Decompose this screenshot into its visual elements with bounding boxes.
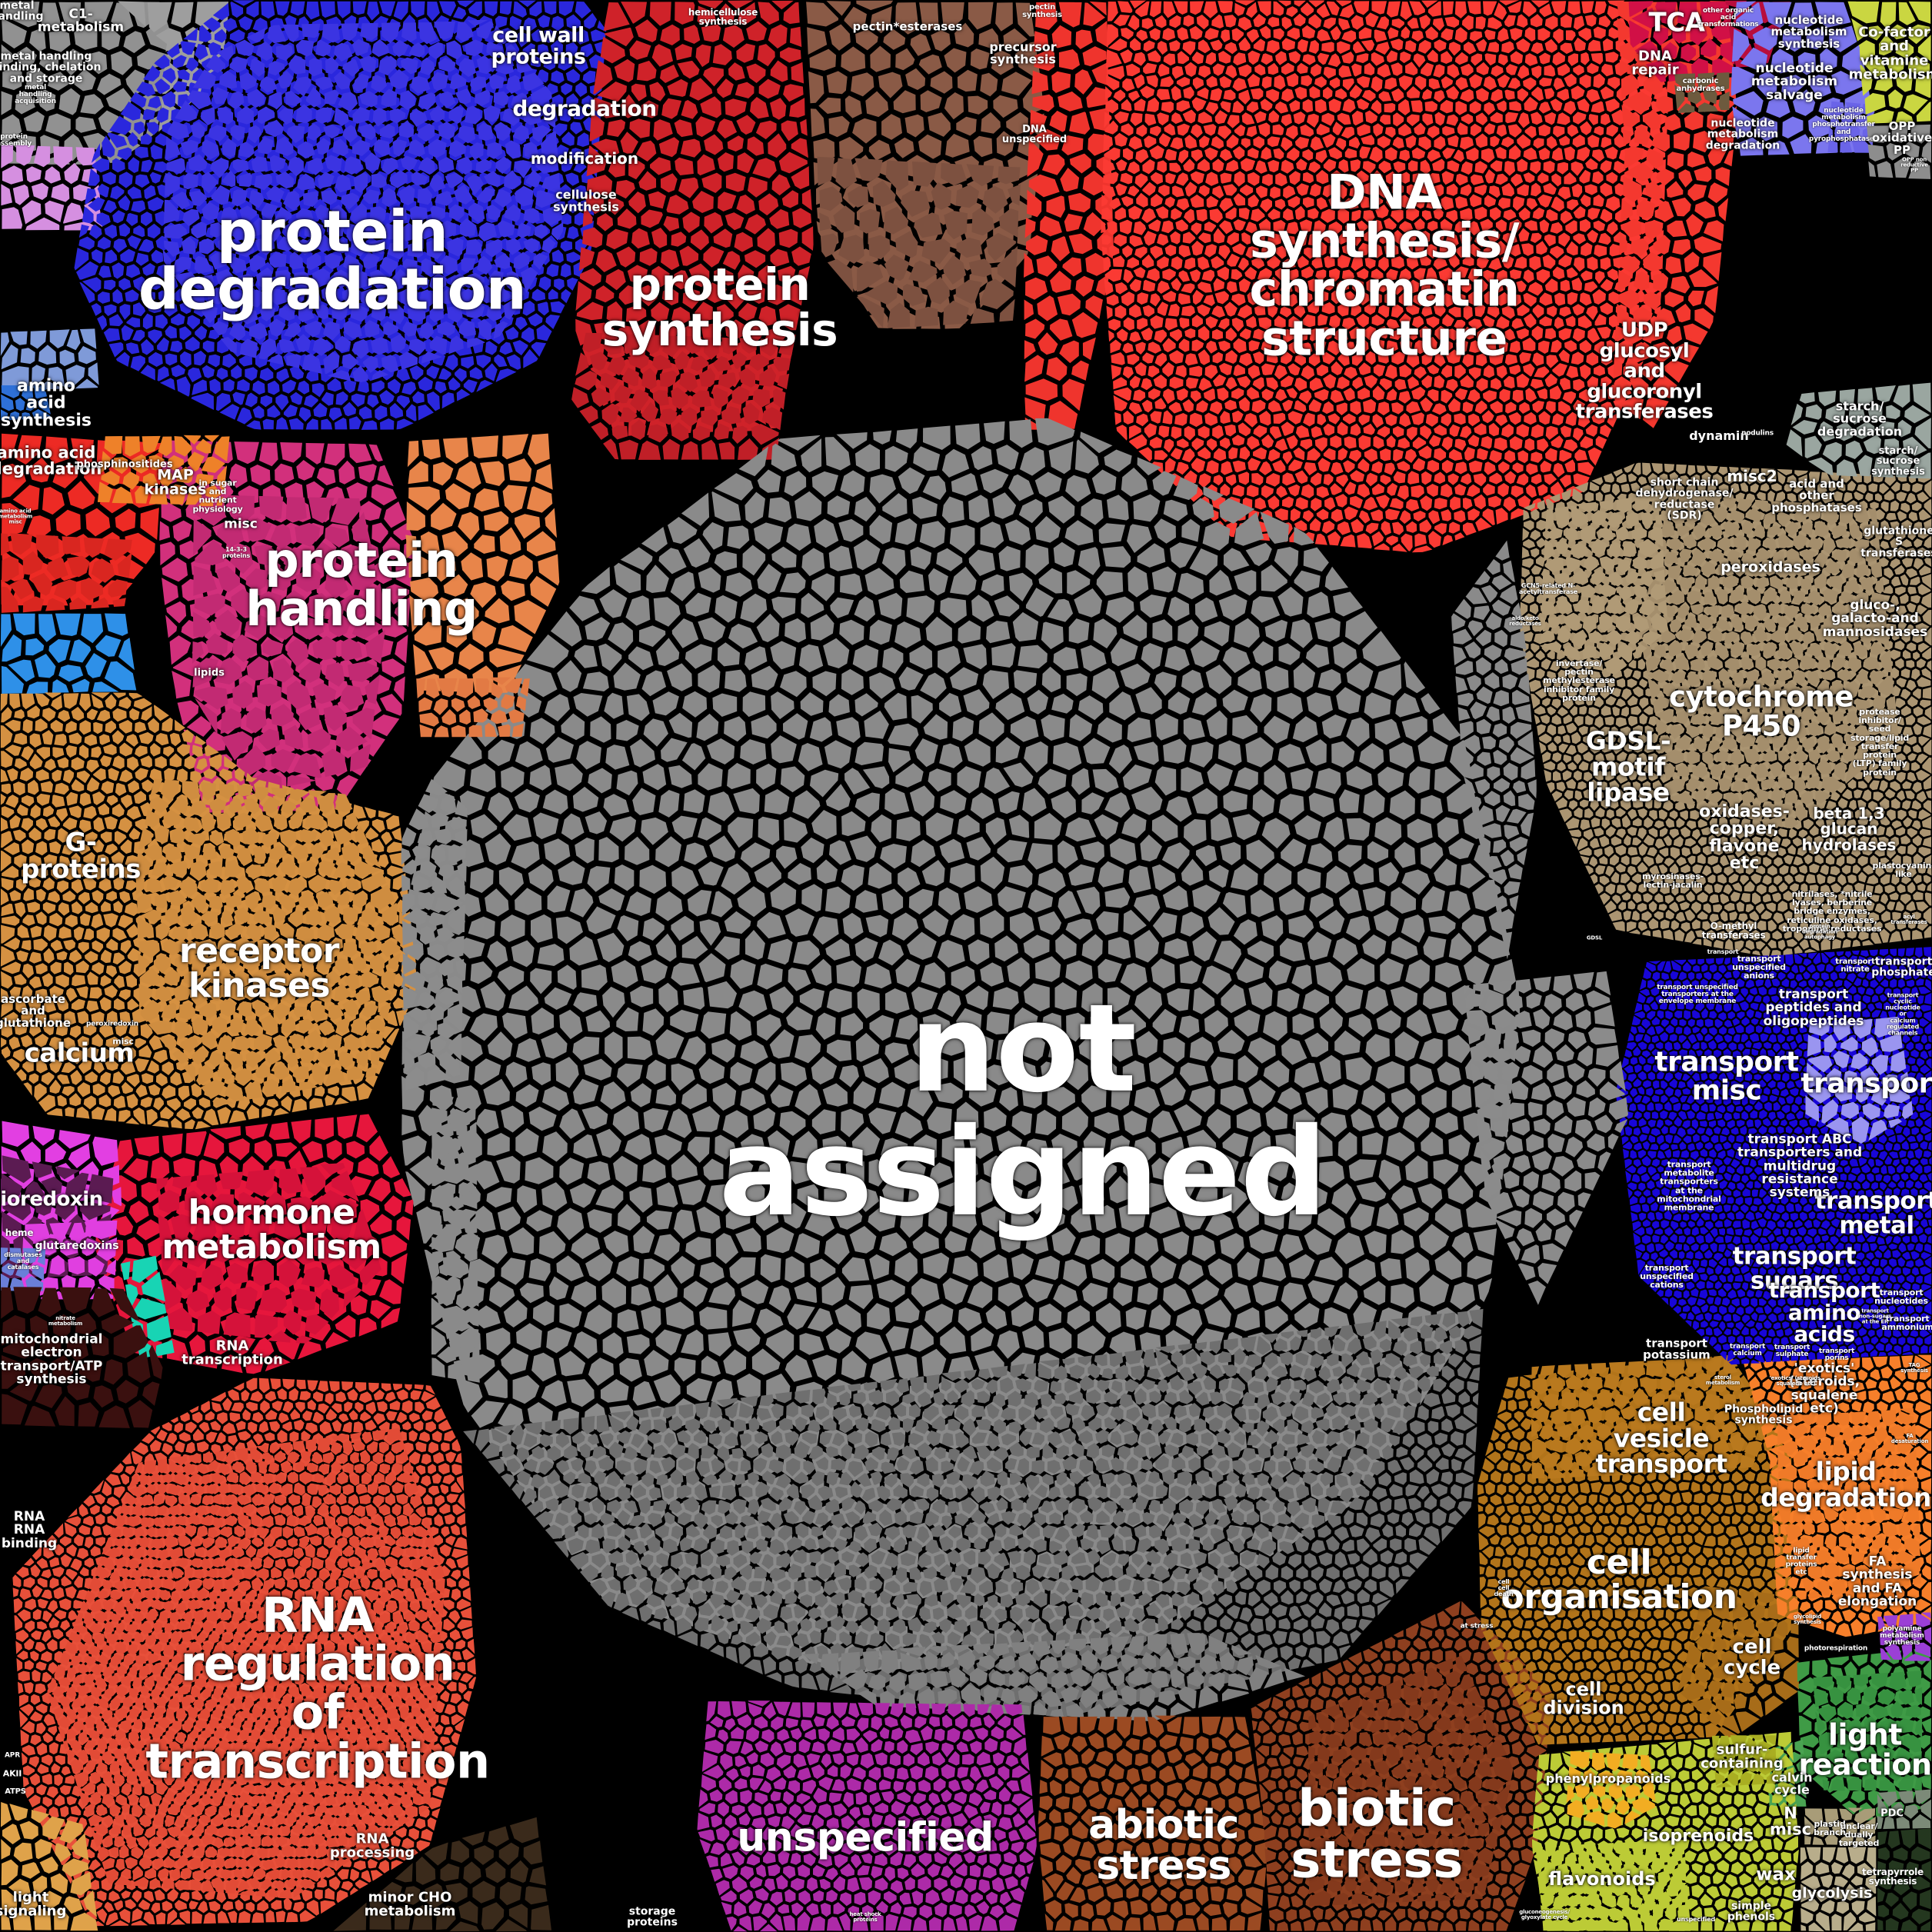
voronoi-cell	[48, 72, 68, 91]
voronoi-cell	[397, 395, 411, 408]
voronoi-cell	[1204, 1010, 1228, 1038]
voronoi-cell	[644, 1108, 669, 1133]
voronoi-cell	[1391, 88, 1404, 102]
voronoi-cell	[1452, 1084, 1472, 1112]
voronoi-cell	[971, 792, 995, 819]
voronoi-cell	[1371, 100, 1381, 115]
voronoi-cell	[781, 121, 798, 142]
voronoi-cell	[1183, 15, 1194, 27]
voronoi-cell	[1360, 146, 1371, 158]
region-cell-wall-2	[817, 157, 1021, 328]
voronoi-cell	[1365, 12, 1378, 27]
voronoi-cell	[1220, 173, 1231, 184]
voronoi-cell	[1009, 814, 1029, 838]
voronoi-cell	[1307, 931, 1331, 960]
voronoi-cell	[684, 538, 711, 568]
voronoi-cell	[730, 1062, 753, 1086]
voronoi-cell	[1601, 279, 1614, 291]
voronoi-cell	[1054, 542, 1075, 568]
voronoi-cell	[1270, 426, 1281, 439]
voronoi-cell	[625, 595, 650, 625]
voronoi-cell	[1164, 197, 1175, 208]
voronoi-cell	[1244, 267, 1257, 280]
voronoi-cell	[1350, 85, 1363, 98]
voronoi-cell	[1206, 341, 1217, 354]
voronoi-cell	[427, 365, 440, 378]
voronoi-cell	[698, 6, 717, 25]
voronoi-cell	[1393, 426, 1404, 438]
voronoi-cell	[1038, 911, 1061, 935]
voronoi-cell	[1160, 1078, 1186, 1106]
voronoi-cell	[696, 45, 711, 67]
voronoi-cell	[1227, 254, 1240, 267]
voronoi-cell	[1114, 89, 1126, 102]
voronoi-cell	[1317, 314, 1327, 326]
voronoi-cell	[567, 226, 579, 239]
voronoi-cell	[1268, 400, 1282, 412]
voronoi-cell	[1150, 437, 1163, 448]
voronoi-cell	[1594, 195, 1604, 207]
voronoi-cell	[1442, 460, 1454, 474]
voronoi-cell	[1524, 269, 1534, 283]
voronoi-cell	[1807, 28, 1824, 49]
voronoi-cell	[1315, 768, 1341, 794]
voronoi-cell	[1391, 62, 1402, 76]
voronoi-cell	[998, 546, 1020, 571]
voronoi-cell	[1477, 328, 1489, 341]
voronoi-cell	[1523, 2, 1537, 17]
voronoi-cell	[1374, 664, 1402, 695]
voronoi-cell	[911, 987, 938, 1013]
voronoi-cell	[1078, 695, 1104, 720]
voronoi-cell	[591, 422, 609, 440]
voronoi-cell	[1051, 791, 1076, 819]
voronoi-cell	[682, 743, 705, 770]
voronoi-cell	[1414, 195, 1427, 208]
voronoi-cell	[1261, 485, 1274, 498]
voronoi-cell	[485, 341, 498, 355]
voronoi-cell	[1441, 51, 1452, 64]
voronoi-cell	[728, 62, 745, 81]
voronoi-cell	[1285, 294, 1297, 307]
voronoi-cell	[651, 228, 667, 248]
voronoi-cell	[728, 135, 744, 152]
voronoi-cell	[1357, 124, 1371, 136]
voronoi-cell	[1247, 485, 1259, 497]
voronoi-cell	[971, 446, 993, 470]
voronoi-cell	[1311, 136, 1324, 151]
voronoi-cell	[1371, 1, 1387, 14]
voronoi-cell	[940, 790, 967, 814]
voronoi-cell	[1887, 143, 1903, 161]
voronoi-cell	[718, 192, 736, 212]
voronoi-cell	[654, 597, 681, 626]
voronoi-cell	[672, 270, 692, 289]
voronoi-cell	[1204, 2, 1218, 18]
voronoi-cell	[151, 145, 163, 159]
voronoi-cell	[1554, 78, 1565, 91]
voronoi-cell	[1502, 183, 1515, 197]
voronoi-cell	[1267, 304, 1278, 318]
voronoi-cell	[1391, 38, 1404, 50]
voronoi-cell	[671, 232, 687, 247]
voronoi-cell	[1311, 498, 1321, 511]
voronoi-cell	[1342, 270, 1354, 283]
voronoi-cell	[515, 741, 543, 768]
voronoi-cell	[1292, 1158, 1314, 1185]
voronoi-cell	[439, 2, 456, 17]
voronoi-cell	[1184, 135, 1197, 148]
voronoi-cell	[1154, 671, 1177, 695]
voronoi-cell	[1467, 508, 1480, 521]
voronoi-cell	[1315, 962, 1343, 992]
voronoi-cell	[1678, 169, 1692, 188]
voronoi-cell	[1405, 959, 1430, 988]
voronoi-cell	[438, 368, 451, 380]
voronoi-cell	[1189, 741, 1213, 768]
voronoi-cell	[1109, 245, 1119, 256]
voronoi-cell	[1066, 918, 1093, 940]
voronoi-cell	[1455, 52, 1468, 65]
voronoi-cell	[598, 933, 625, 962]
voronoi-cell	[1267, 136, 1281, 147]
voronoi-cell	[1484, 291, 1495, 305]
voronoi-cell	[1094, 1059, 1117, 1084]
voronoi-cell	[1344, 174, 1357, 187]
voronoi-cell	[1399, 413, 1411, 427]
voronoi-cell	[950, 667, 978, 691]
voronoi-cell	[1485, 169, 1495, 184]
voronoi-cell	[1412, 316, 1424, 328]
voronoi-cell	[1517, 88, 1528, 102]
voronoi-cell	[45, 166, 61, 183]
voronoi-cell	[1533, 208, 1545, 220]
voronoi-cell	[523, 301, 535, 316]
voronoi-cell	[1150, 411, 1161, 423]
voronoi-cell	[1399, 172, 1410, 184]
voronoi-cell	[119, 223, 131, 237]
voronoi-cell	[1406, 232, 1416, 242]
voronoi-cell	[1234, 1010, 1260, 1037]
voronoi-cell	[791, 247, 811, 266]
voronoi-cell	[1302, 149, 1313, 161]
voronoi-cell	[1162, 842, 1190, 869]
voronoi-cell	[1297, 868, 1321, 893]
voronoi-cell	[838, 519, 863, 542]
voronoi-cell	[964, 738, 991, 767]
voronoi-cell	[158, 366, 169, 381]
voronoi-cell	[561, 289, 571, 303]
voronoi-cell	[708, 791, 734, 821]
voronoi-cell	[1217, 1, 1233, 13]
voronoi-cell	[1447, 891, 1471, 919]
voronoi-cell	[1205, 102, 1218, 115]
voronoi-cell	[822, 1136, 848, 1159]
voronoi-cell	[1304, 248, 1316, 259]
voronoi-cell	[1126, 64, 1141, 76]
voronoi-cell	[1169, 350, 1184, 364]
voronoi-cell	[841, 1109, 864, 1138]
voronoi-cell	[1214, 448, 1227, 461]
voronoi-cell	[1877, 161, 1893, 178]
voronoi-cell	[1322, 302, 1335, 315]
voronoi-cell	[1163, 885, 1188, 910]
voronoi-cell	[1573, 400, 1585, 412]
voronoi-cell	[1210, 1151, 1239, 1183]
voronoi-cell	[1192, 97, 1207, 112]
voronoi-cell	[565, 173, 579, 186]
voronoi-cell	[1374, 818, 1401, 846]
voronoi-cell	[1675, 343, 1699, 362]
voronoi-cell	[799, 645, 823, 673]
voronoi-cell	[1038, 769, 1066, 794]
voronoi-cell	[1448, 307, 1461, 318]
voronoi-cell	[704, 135, 723, 155]
voronoi-cell	[1394, 230, 1404, 245]
voronoi-cell	[1429, 78, 1441, 90]
voronoi-cell	[1595, 314, 1607, 326]
voronoi-cell	[1537, 388, 1547, 399]
voronoi-cell	[165, 325, 177, 338]
voronoi-cell	[411, 172, 428, 185]
voronoi-cell	[598, 644, 621, 671]
voronoi-cell	[1238, 258, 1249, 271]
voronoi-cell	[120, 249, 135, 264]
voronoi-cell	[828, 259, 854, 292]
voronoi-cell	[1181, 519, 1200, 542]
voronoi-cell	[510, 16, 522, 31]
voronoi-cell	[1120, 220, 1133, 235]
voronoi-cell	[1684, 324, 1708, 345]
voronoi-cell	[1059, 49, 1080, 70]
voronoi-cell	[1069, 715, 1092, 741]
voronoi-cell	[554, 278, 565, 290]
voronoi-cell	[559, 1010, 582, 1039]
voronoi-cell	[133, 302, 145, 316]
voronoi-cell	[1224, 400, 1237, 411]
voronoi-cell	[1468, 318, 1482, 330]
voronoi-cell	[1143, 305, 1154, 317]
voronoi-cell	[92, 303, 102, 316]
voronoi-cell	[1251, 257, 1264, 269]
voronoi-cell	[1279, 794, 1304, 821]
voronoi-cell	[588, 768, 612, 794]
voronoi-cell	[914, 1134, 937, 1163]
voronoi-cell	[1251, 88, 1264, 100]
voronoi-cell	[756, 121, 777, 139]
voronoi-cell	[1480, 219, 1493, 232]
voronoi-cell	[1259, 461, 1272, 475]
voronoi-cell	[1111, 1036, 1133, 1061]
voronoi-cell	[1320, 1008, 1344, 1038]
voronoi-cell	[744, 646, 767, 670]
voronoi-cell	[1065, 520, 1094, 545]
voronoi-cell	[559, 2, 575, 16]
voronoi-cell	[583, 671, 609, 691]
voronoi-cell	[1538, 411, 1550, 425]
voronoi-cell	[1157, 112, 1169, 125]
voronoi-cell	[1080, 841, 1104, 863]
voronoi-cell	[1441, 390, 1452, 404]
voronoi-cell	[671, 307, 691, 325]
voronoi-cell	[1411, 387, 1425, 400]
voronoi-cell	[1406, 499, 1419, 511]
voronoi-cell	[465, 39, 483, 56]
voronoi-cell	[723, 25, 744, 48]
voronoi-cell	[1366, 351, 1376, 365]
voronoi-cell	[577, 132, 589, 147]
voronoi-cell	[1331, 26, 1341, 41]
voronoi-cell	[160, 378, 175, 391]
voronoi-cell	[1142, 255, 1154, 268]
voronoi-cell	[528, 313, 542, 326]
voronoi-cell	[1339, 888, 1362, 914]
voronoi-cell	[664, 216, 680, 232]
voronoi-cell	[1426, 316, 1439, 328]
voronoi-cell	[1434, 858, 1457, 885]
voronoi-cell	[321, 392, 334, 406]
voronoi-cell	[1550, 246, 1564, 259]
voronoi-cell	[1171, 86, 1182, 102]
voronoi-cell	[1098, 861, 1124, 888]
voronoi-cell	[621, 95, 637, 118]
voronoi-cell	[883, 29, 905, 50]
voronoi-cell	[1307, 843, 1333, 868]
voronoi-cell	[599, 589, 627, 618]
voronoi-cell	[699, 1058, 725, 1084]
voronoi-cell	[1399, 75, 1413, 91]
voronoi-cell	[1351, 64, 1362, 77]
voronoi-cell	[1420, 398, 1433, 412]
voronoi-cell	[1607, 340, 1617, 353]
voronoi-cell	[1377, 352, 1388, 364]
voronoi-cell	[1079, 1037, 1106, 1061]
voronoi-cell	[1123, 1161, 1148, 1187]
voronoi-cell	[980, 469, 1008, 494]
voronoi-cell	[1394, 162, 1406, 173]
voronoi-cell	[1454, 532, 1464, 540]
voronoi-cell	[1275, 102, 1288, 114]
voronoi-cell	[1176, 462, 1188, 475]
voronoi-cell	[1006, 112, 1028, 135]
voronoi-cell	[1226, 475, 1237, 486]
voronoi-cell	[1255, 160, 1267, 174]
voronoi-cell	[718, 152, 734, 172]
voronoi-cell	[471, 814, 498, 839]
voronoi-cell	[1531, 379, 1544, 389]
voronoi-cell	[495, 288, 513, 302]
voronoi-cell	[1008, 475, 1034, 501]
voronoi-cell	[309, 58, 323, 76]
voronoi-cell	[771, 249, 790, 267]
voronoi-cell	[1494, 438, 1507, 451]
voronoi-cell	[1374, 436, 1384, 449]
voronoi-cell	[1120, 664, 1150, 690]
voronoi-cell	[1538, 341, 1550, 354]
voronoi-cell	[996, 445, 1019, 470]
voronoi-cell	[1272, 292, 1284, 305]
voronoi-cell	[1407, 185, 1417, 198]
voronoi-cell	[1667, 221, 1687, 237]
voronoi-cell	[1265, 1107, 1287, 1131]
voronoi-cell	[1351, 159, 1361, 172]
voronoi-cell	[1099, 523, 1125, 544]
voronoi-cell	[899, 667, 924, 691]
voronoi-cell	[1406, 401, 1421, 414]
voronoi-cell	[1550, 385, 1562, 399]
voronoi-cell	[1005, 519, 1031, 545]
voronoi-cell	[715, 936, 740, 960]
voronoi-cell	[1351, 1108, 1374, 1131]
voronoi-cell	[78, 237, 95, 250]
voronoi-cell	[1428, 531, 1441, 548]
voronoi-cell	[1495, 147, 1507, 159]
voronoi-cell	[788, 968, 811, 991]
voronoi-cell	[1874, 77, 1893, 92]
voronoi-cell	[1048, 496, 1075, 524]
voronoi-cell	[1010, 912, 1034, 939]
voronoi-cell	[1317, 365, 1329, 377]
voronoi-cell	[1362, 934, 1386, 960]
voronoi-cell	[1267, 277, 1281, 291]
voronoi-cell	[752, 158, 777, 178]
voronoi-cell	[1565, 412, 1577, 426]
voronoi-cell	[713, 44, 732, 65]
voronoi-cell	[1238, 471, 1249, 485]
voronoi-cell	[813, 138, 834, 161]
voronoi-cell	[1108, 937, 1131, 959]
voronoi-cell	[468, 2, 482, 17]
voronoi-cell	[1346, 766, 1372, 790]
voronoi-cell	[999, 1087, 1018, 1111]
voronoi-cell	[1210, 401, 1223, 415]
voronoi-cell	[692, 191, 714, 213]
voronoi-cell	[1394, 471, 1406, 484]
voronoi-cell	[1280, 938, 1305, 962]
voronoi-cell	[1377, 1107, 1399, 1131]
voronoi-cell	[700, 96, 721, 118]
voronoi-cell	[1311, 64, 1322, 77]
voronoi-cell	[971, 1035, 994, 1066]
voronoi-cell	[1561, 211, 1573, 224]
voronoi-cell	[411, 2, 425, 18]
voronoi-cell	[1083, 46, 1107, 66]
voronoi-cell	[1147, 268, 1160, 281]
voronoi-cell	[1503, 233, 1517, 245]
voronoi-cell	[1358, 243, 1371, 256]
voronoi-cell	[217, 368, 228, 380]
voronoi-cell	[171, 365, 185, 377]
voronoi-cell	[682, 936, 708, 959]
voronoi-cell	[268, 92, 282, 109]
voronoi-cell	[1163, 388, 1175, 404]
voronoi-cell	[1421, 283, 1431, 295]
voronoi-cell	[504, 814, 531, 841]
voronoi-cell	[1133, 389, 1145, 401]
voronoi-cell	[778, 266, 795, 284]
voronoi-cell	[783, 84, 804, 102]
voronoi-cell	[538, 276, 551, 291]
voronoi-cell	[1042, 155, 1065, 175]
voronoi-cell	[754, 522, 783, 549]
voronoi-cell	[1357, 221, 1368, 233]
voronoi-cell	[1181, 767, 1204, 792]
voronoi-cell	[1018, 645, 1048, 669]
voronoi-cell	[744, 250, 765, 268]
voronoi-cell	[1573, 328, 1585, 342]
voronoi-cell	[1468, 291, 1481, 305]
voronoi-cell	[894, 90, 916, 113]
